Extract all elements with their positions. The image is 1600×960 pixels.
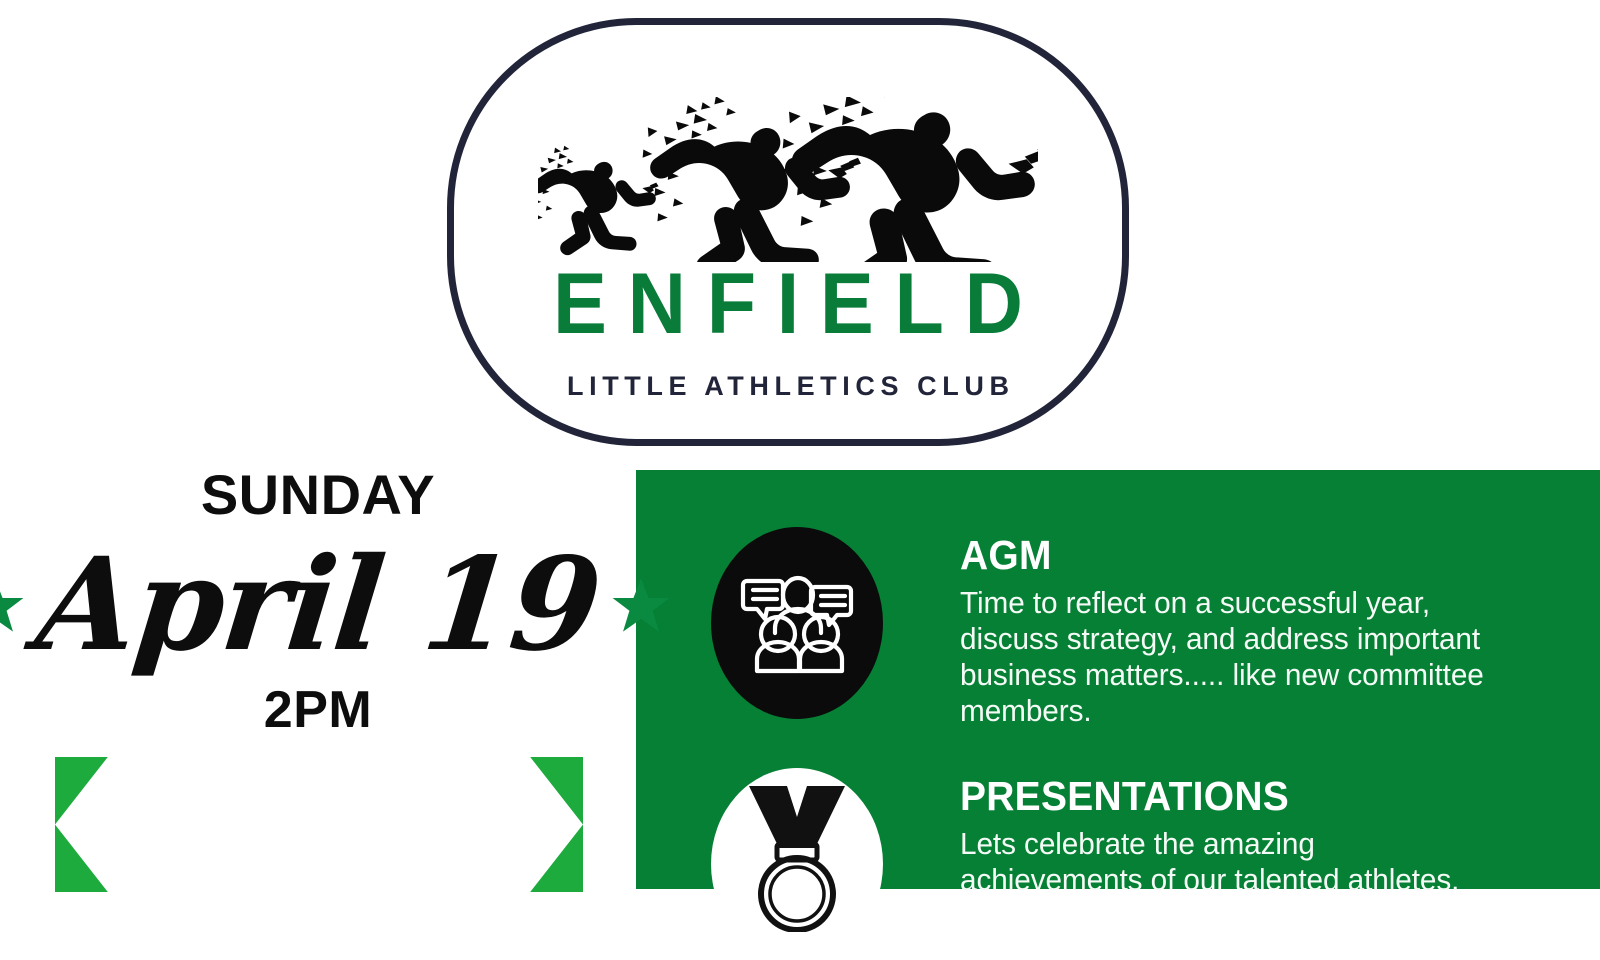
agm-icon-wrap	[710, 527, 884, 719]
event-details-panel: AGM Time to reflect on a successful year…	[636, 470, 1600, 889]
agm-text-block: AGM Time to reflect on a successful year…	[960, 527, 1520, 729]
event-date: April 19	[17, 539, 619, 671]
agm-title: AGM	[960, 533, 1492, 577]
club-logo-badge: ENFIELD LITTLE ATHLETICS CLUB	[447, 18, 1129, 446]
presentations-text-block: PRESENTATIONS Lets celebrate the amazing…	[960, 768, 1520, 898]
event-weekday: SUNDAY	[0, 464, 636, 526]
presentations-title: PRESENTATIONS	[960, 774, 1492, 818]
event-date-block: SUNDAY April 19 2PM AGM & PRESENTATION D…	[0, 460, 636, 889]
agm-detail-row: AGM Time to reflect on a successful year…	[710, 527, 1520, 729]
event-time: 2PM	[0, 681, 636, 739]
ribbon-line-1: AGM &	[248, 773, 391, 825]
logo-wordmark: ENFIELD	[474, 261, 1102, 347]
medal-award-icon	[711, 768, 883, 960]
presentations-icon-wrap	[710, 768, 884, 960]
meeting-discussion-icon	[711, 527, 883, 719]
presentations-detail-row: PRESENTATIONS Lets celebrate the amazing…	[710, 768, 1520, 960]
three-sprinting-runners-icon	[538, 97, 1038, 262]
agm-body: Time to reflect on a successful year, di…	[960, 585, 1498, 729]
event-ribbon-banner: AGM & PRESENTATION DAY	[55, 757, 583, 892]
star-icon	[612, 576, 670, 634]
ribbon-line-2: PRESENTATION DAY	[105, 825, 532, 877]
logo-subtitle: LITTLE ATHLETICS CLUB	[454, 371, 1122, 401]
presentations-body: Lets celebrate the amazing achievements …	[960, 826, 1498, 898]
star-icon	[0, 576, 24, 634]
event-date-line: April 19	[0, 532, 636, 678]
